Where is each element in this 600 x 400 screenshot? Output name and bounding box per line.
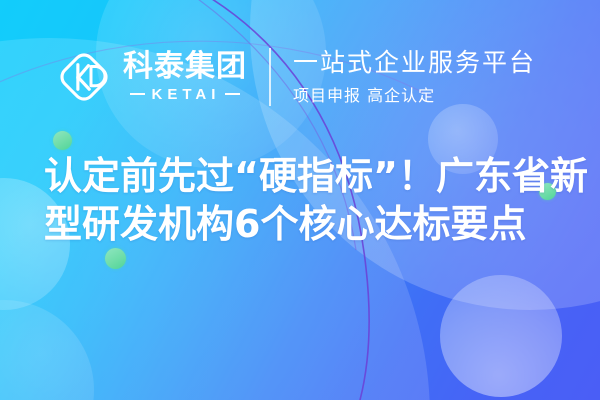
banner-title: 认定前先过“硬指标”！广东省新 型研发机构6个核心达标要点 <box>44 152 572 248</box>
brand-wordmark: 科泰集团 KETAI <box>123 51 247 103</box>
banner-header: 科泰集团 KETAI 一站式企业服务平台 项目申报 高企认定 <box>0 42 600 112</box>
brand-name-en: KETAI <box>152 86 221 103</box>
accent-dot-green-bottom <box>105 248 126 269</box>
banner-title-line-2: 型研发机构6个核心达标要点 <box>44 200 572 248</box>
ketai-logo-icon <box>56 49 112 105</box>
banner-title-line-1: 认定前先过“硬指标”！广东省新 <box>44 152 572 200</box>
background-circle-bottom-right <box>440 275 562 397</box>
accent-dot-green-top <box>53 131 72 150</box>
promo-banner: 科泰集团 KETAI 一站式企业服务平台 项目申报 高企认定 认定前先过“硬指标… <box>0 0 600 400</box>
brand-lockup: 科泰集团 KETAI <box>56 49 247 105</box>
header-divider <box>269 48 271 106</box>
slogan-sub: 项目申报 高企认定 <box>293 82 536 106</box>
brand-rule-right <box>225 93 240 95</box>
brand-name-en-row: KETAI <box>123 86 247 103</box>
background-circle-bottom-left <box>0 300 94 400</box>
brand-rule-left <box>130 93 145 95</box>
slogan-main: 一站式企业服务平台 <box>293 49 536 77</box>
slogan-block: 一站式企业服务平台 项目申报 高企认定 <box>293 49 536 106</box>
brand-name-cn: 科泰集团 <box>123 51 247 83</box>
